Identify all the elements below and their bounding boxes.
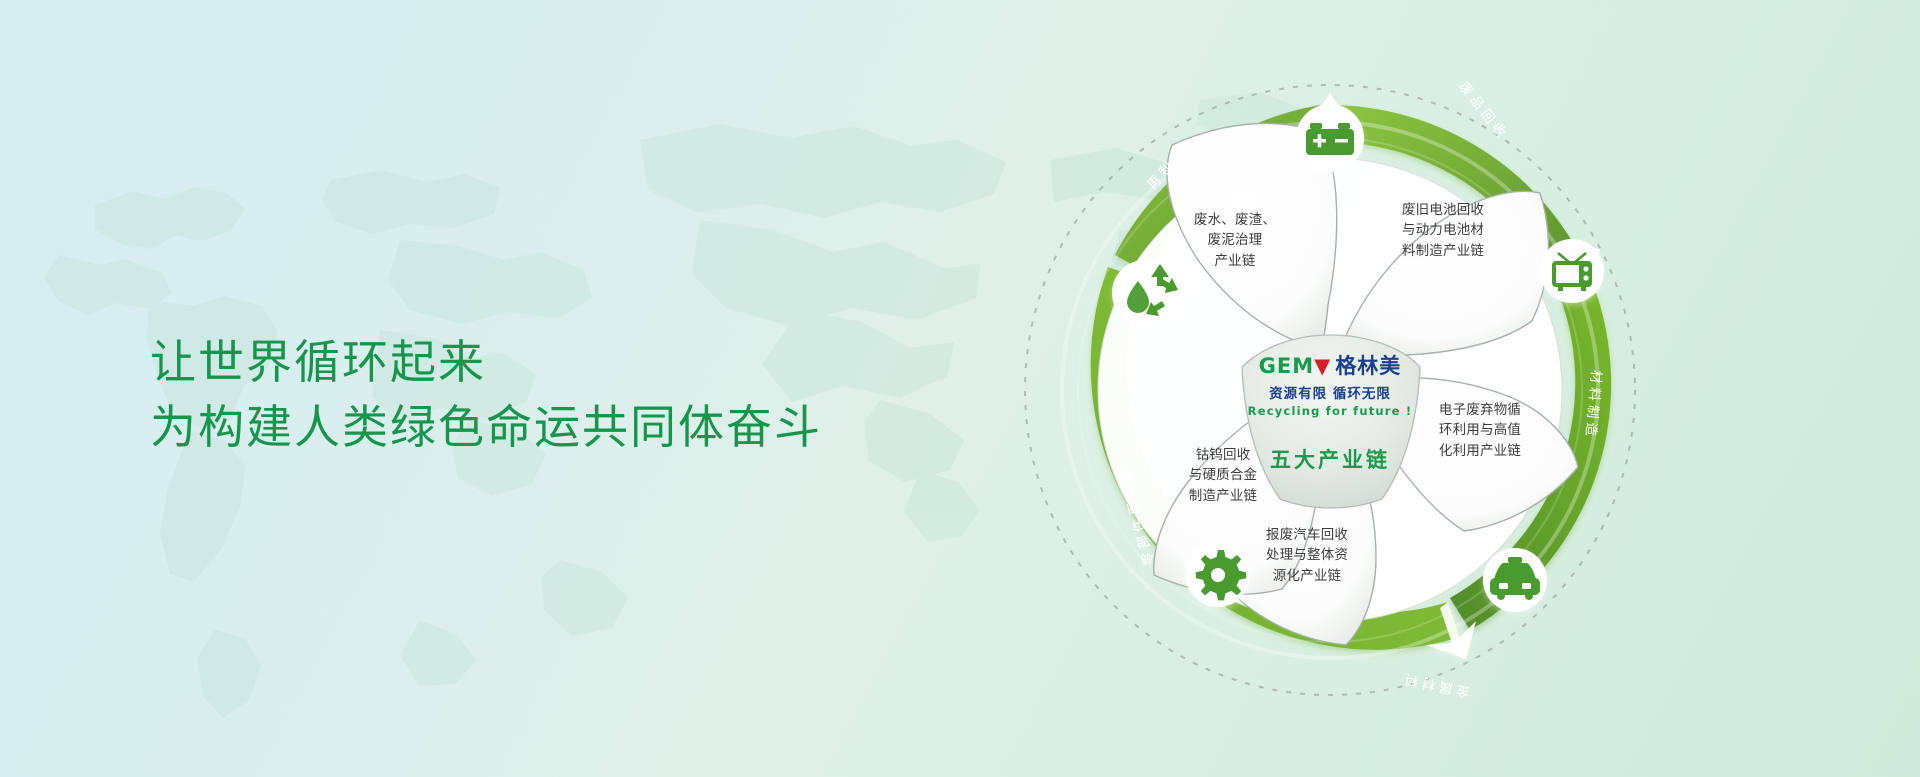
brand-latin: GEM xyxy=(1259,354,1314,378)
center-headline: 五大产业链 xyxy=(1215,444,1445,474)
brand-tagline-cn: 资源有限 循环无限 xyxy=(1215,382,1445,402)
five-industry-chain-diagram: 废水、废渣、 废泥治理 产业链 废旧电池回收 与动力电池材 料制造产业链 电子废… xyxy=(1020,5,1640,775)
segment-label-battery: 废旧电池回收 与动力电池材 料制造产业链 xyxy=(1368,200,1518,261)
slogan-line-1: 让世界循环起来 xyxy=(150,330,822,395)
slogan-block: 让世界循环起来 为构建人类绿色命运共同体奋斗 xyxy=(150,330,822,461)
center-brand-block: GEM▼格林美 资源有限 循环无限 Recycling for future !… xyxy=(1215,350,1445,474)
segment-label-waste-water: 废水、废渣、 废泥治理 产业链 xyxy=(1160,210,1310,271)
brand-tagline-en: Recycling for future ! xyxy=(1215,404,1445,418)
segment-label-scrap-car: 报废汽车回收 处理与整体资 源化产业链 xyxy=(1232,525,1382,586)
brand-lockup: GEM▼格林美 xyxy=(1215,350,1445,380)
brand-cn: 格林美 xyxy=(1335,354,1401,378)
slogan-line-2: 为构建人类绿色命运共同体奋斗 xyxy=(150,395,822,460)
